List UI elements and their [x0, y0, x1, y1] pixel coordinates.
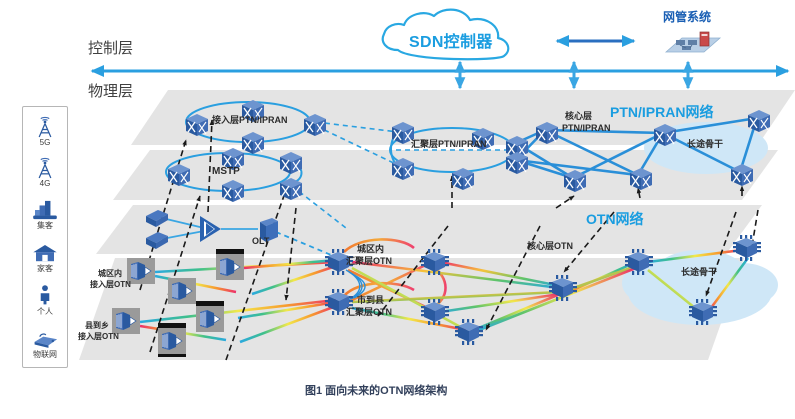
cell-tower-icon [35, 155, 55, 179]
physical-layer-label: 物理层 [88, 84, 133, 100]
cell-tower-icon [35, 114, 55, 138]
ptn-core-label-2: PTN/IPRAN [562, 124, 611, 133]
slab-otn-access [96, 205, 762, 254]
person-icon [39, 282, 51, 306]
legend-item-5g[interactable]: 5G [23, 114, 67, 147]
diagram-canvas [0, 0, 795, 419]
legend-label-4g: 4G [23, 179, 67, 188]
otn-access-rural-label-1: 县到乡 [85, 322, 109, 330]
control-layer-label: 控制层 [88, 41, 133, 57]
house-icon [33, 239, 57, 263]
ptn-access-ring-label: 接入层PTN/IPRAN [212, 116, 288, 125]
legend-label-iot: 物联网 [23, 349, 67, 360]
legend-label-personal: 个人 [23, 306, 67, 317]
ptn-network-title: PTN/IPRAN网络 [610, 105, 713, 120]
mstp-ring-label: MSTP [212, 167, 240, 178]
sdn-controller-label: SDN控制器 [409, 35, 493, 52]
iot-gateway-icon [32, 325, 58, 349]
service-legend-panel: 5G 4G [22, 106, 68, 368]
legend-label-5g: 5G [23, 138, 67, 147]
nms-title: 网管系统 [663, 11, 711, 24]
otn-agg-urban-label-2: 汇聚层OTN [346, 257, 392, 266]
legend-item-enterprise[interactable]: 集客 [23, 196, 67, 231]
legend-item-home[interactable]: 家客 [23, 239, 67, 274]
otn-core-label: 核心层OTN [527, 242, 573, 251]
figure-caption: 图1 面向未来的OTN网络架构 [305, 386, 447, 398]
otn-access-rural-label-2: 接入层OTN [78, 333, 119, 341]
otn-network-title: OTN网络 [586, 212, 644, 227]
otn-agg-county-label-2: 汇聚层OTN [346, 308, 392, 317]
otn-access-urban-label-1: 城区内 [98, 270, 122, 278]
office-building-icon [33, 196, 57, 220]
otn-backbone-label: 长途骨干 [681, 268, 717, 277]
otn-agg-urban-label-1: 城区内 [357, 245, 384, 254]
legend-item-personal[interactable]: 个人 [23, 282, 67, 317]
ptn-agg-ring-label: 汇聚层PTN/IPRAN [411, 140, 487, 149]
otn-access-urban-label-2: 接入层OTN [90, 281, 131, 289]
legend-item-iot[interactable]: 物联网 [23, 325, 67, 360]
figure-root: 控制层 物理层 SDN控制器 网管系统 PTN/IPRAN网络 OTN网络 接入… [0, 0, 795, 419]
server-rack-icon [660, 30, 722, 60]
legend-label-enterprise: 集客 [23, 220, 67, 231]
ptn-core-label-1: 核心层 [565, 112, 592, 121]
ptn-backbone-label: 长途骨干 [687, 140, 723, 149]
legend-label-home: 家客 [23, 263, 67, 274]
otn-agg-county-label-1: 市到县 [357, 296, 384, 305]
legend-item-4g[interactable]: 4G [23, 155, 67, 188]
olt-label: OLT [252, 237, 269, 246]
